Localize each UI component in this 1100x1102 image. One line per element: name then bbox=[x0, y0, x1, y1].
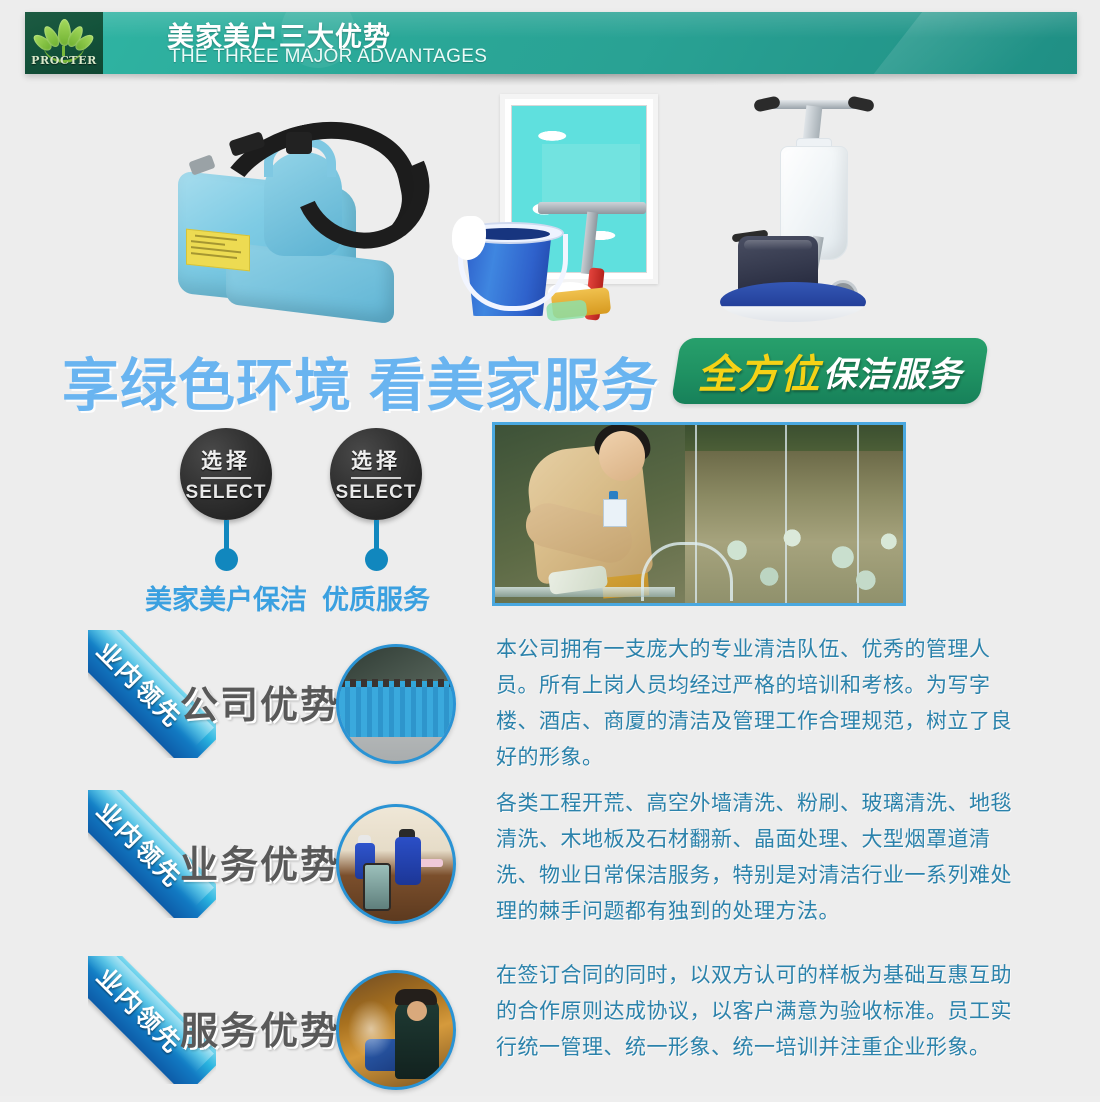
select-pin-2[interactable]: 选择 SELECT 优质服务 bbox=[330, 428, 422, 520]
pin-dot-icon bbox=[215, 548, 238, 571]
product-image-strip bbox=[0, 86, 1100, 336]
ribbon-highlight-text: 全方位 bbox=[698, 342, 821, 400]
select-badge-icon: 选择 SELECT bbox=[330, 428, 422, 520]
advantage-photo-3 bbox=[336, 970, 456, 1090]
advantage-photo-1 bbox=[336, 644, 456, 764]
service-ribbon: 全方位 保洁服务 bbox=[671, 338, 989, 404]
page-header: PROCTER 美家美户三大优势 THE THREE MAJOR ADVANTA… bbox=[25, 12, 1077, 74]
advantage-title-2: 业务优势 bbox=[180, 834, 340, 889]
advantage-photo-2 bbox=[336, 804, 456, 924]
advantage-title-3: 服务优势 bbox=[180, 1000, 340, 1055]
select-pin-2-label: 优质服务 bbox=[295, 578, 457, 617]
logo-wordmark: PROCTER bbox=[25, 54, 103, 67]
window-cleaning-image bbox=[452, 86, 682, 322]
ribbon-text: 保洁服务 bbox=[823, 347, 963, 396]
advantage-text-2: 各类工程开荒、高空外墙清洗、粉刷、玻璃清洗、地毯清洗、木地板及石材翻新、晶面处理… bbox=[496, 786, 1016, 930]
header-title-en: THE THREE MAJOR ADVANTAGES bbox=[169, 46, 487, 68]
floor-polisher-image bbox=[720, 86, 910, 324]
advantage-text-1: 本公司拥有一支庞大的专业清洁队伍、优秀的管理人员。所有上岗人员均经过严格的培训和… bbox=[496, 632, 1016, 776]
header-shadow bbox=[60, 74, 1050, 86]
header-banner: 美家美户三大优势 THE THREE MAJOR ADVANTAGES bbox=[103, 12, 1077, 74]
company-logo[interactable]: PROCTER bbox=[25, 12, 103, 74]
sprayer-spec-label bbox=[186, 229, 250, 272]
advantage-row-service: 业内领先 服务优势 在签订合同的同时，以双方认可的样板为基础互惠互助的合作原则达… bbox=[0, 952, 1100, 1102]
advantage-row-business: 业内领先 业务优势 各类工程开荒、高空外墙清洗、粉刷、玻璃清洗、地毯清洗、木地板… bbox=[0, 786, 1100, 936]
select-pin-2-cn: 选择 bbox=[351, 445, 401, 479]
advantage-text-3: 在签订合同的同时，以双方认可的样板为基础互惠互助的合作原则达成协议，以客户满意为… bbox=[496, 958, 1016, 1066]
advantage-title-1: 公司优势 bbox=[180, 674, 340, 729]
select-badge-icon: 选择 SELECT bbox=[180, 428, 272, 520]
select-pin-1[interactable]: 选择 SELECT 美家美户保洁 bbox=[180, 428, 272, 520]
select-pin-1-en: SELECT bbox=[186, 482, 267, 504]
leaf-crown-icon bbox=[25, 14, 103, 54]
select-pin-2-en: SELECT bbox=[336, 482, 417, 504]
select-pin-1-cn: 选择 bbox=[201, 445, 251, 479]
advantage-row-company: 业内领先 公司优势 本公司拥有一支庞大的专业清洁队伍、优秀的管理人员。所有上岗人… bbox=[0, 626, 1100, 776]
pin-dot-icon bbox=[365, 548, 388, 571]
ulv-sprayer-image bbox=[168, 100, 418, 315]
main-slogan: 享绿色环境 看美家服务 bbox=[62, 340, 659, 422]
cleaner-at-work-photo bbox=[492, 422, 906, 606]
page-root: PROCTER 美家美户三大优势 THE THREE MAJOR ADVANTA… bbox=[0, 0, 1100, 1096]
